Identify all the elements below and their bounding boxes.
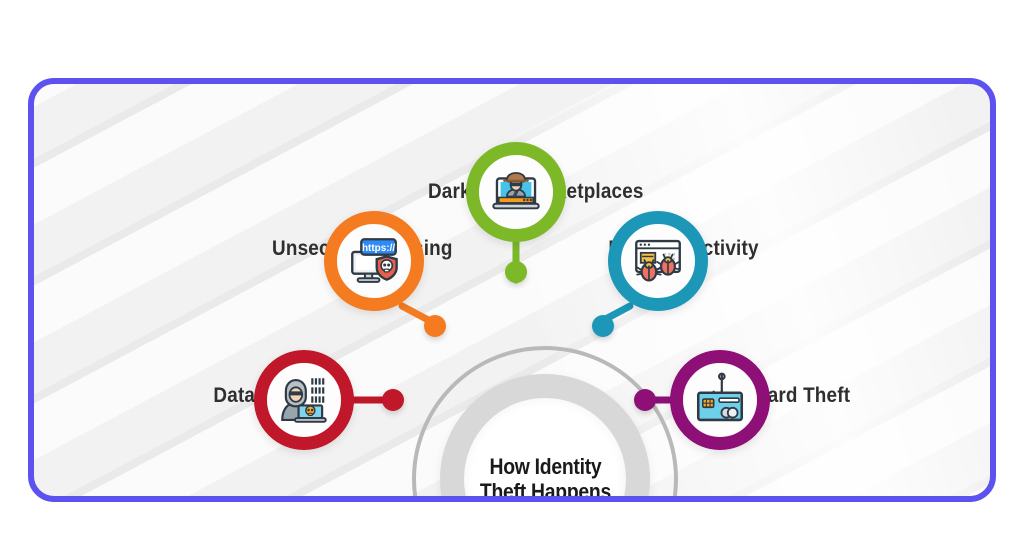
hacker-binary-laptop-icon (267, 363, 341, 437)
connector-dot-data-breaches (382, 389, 404, 411)
browser-bugs-icon (621, 224, 695, 298)
node-credit-card-theft[interactable] (670, 350, 770, 450)
center-hub: How Identity Theft Happens (412, 346, 678, 496)
infographic-card: How Identity Theft Happens Dark Web Mark… (28, 78, 996, 502)
connector-dot-unsecure (424, 315, 446, 337)
center-title: How Identity Theft Happens (479, 454, 610, 496)
connector-dot-credit-card (634, 389, 656, 411)
infographic-canvas: How Identity Theft Happens Dark Web Mark… (0, 0, 1024, 536)
laptop-spy-icon (479, 155, 553, 229)
node-unsecure-browsing[interactable]: https:// (324, 211, 424, 311)
svg-text:https://: https:// (362, 243, 395, 254)
monitor-https-shield-icon: https:// (337, 224, 411, 298)
connector-dot-malware (592, 315, 614, 337)
node-data-breaches[interactable] (254, 350, 354, 450)
node-dark-web-marketplaces[interactable] (466, 142, 566, 242)
credit-card-hook-icon (683, 363, 757, 437)
connector-dot-dark-web (505, 261, 527, 283)
node-malware-activity[interactable] (608, 211, 708, 311)
card-background: How Identity Theft Happens Dark Web Mark… (34, 84, 990, 496)
